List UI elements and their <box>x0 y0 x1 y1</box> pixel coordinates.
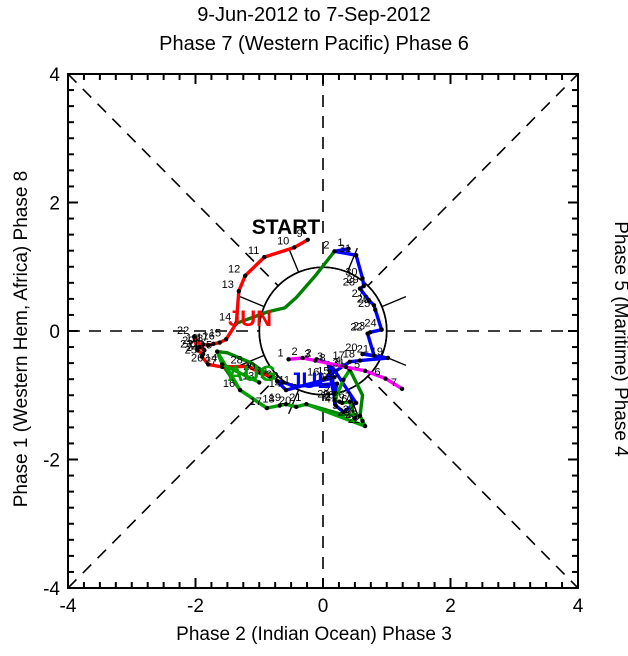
data-point <box>262 255 266 259</box>
x-tick-label: 2 <box>445 596 456 617</box>
day-label: 3 <box>317 351 323 363</box>
y-tick-label: -4 <box>43 579 60 600</box>
data-point <box>238 388 242 392</box>
data-point <box>224 337 228 341</box>
day-label: 24 <box>364 318 376 330</box>
day-label: 13 <box>222 279 234 291</box>
month-label-aug: AUG <box>228 361 277 386</box>
day-label: 28 <box>343 277 355 289</box>
data-point <box>373 308 377 312</box>
day-label: 2 <box>323 239 329 251</box>
data-point <box>284 388 288 392</box>
data-point <box>363 424 367 428</box>
data-point <box>383 376 387 380</box>
day-label: 21 <box>289 392 301 404</box>
x-tick-label: -2 <box>187 596 204 617</box>
data-point <box>360 419 364 423</box>
y-tick-label: 2 <box>49 194 60 215</box>
data-point <box>286 357 290 361</box>
day-label: 14 <box>205 352 217 364</box>
day-label: 19 <box>371 346 383 358</box>
day-label: 6 <box>374 367 380 379</box>
day-label: 1 <box>277 347 283 359</box>
x-tick-label: 0 <box>318 596 329 617</box>
day-label: 12 <box>228 264 240 276</box>
data-point <box>360 276 364 280</box>
data-point <box>218 340 222 344</box>
day-label: 25 <box>338 406 350 418</box>
day-label: 21 <box>357 343 369 355</box>
month-label-jun: JUN <box>228 306 272 331</box>
phase-sector-tick <box>382 297 406 307</box>
data-point <box>363 369 367 373</box>
start-label: START <box>252 216 321 239</box>
data-point <box>354 253 358 257</box>
y-tick-label: -2 <box>43 451 60 472</box>
plot-canvas: -4-2024420-2-4 9101112131415161718192021… <box>0 0 628 656</box>
day-label: 15 <box>200 340 212 352</box>
day-label: 31 <box>339 243 351 255</box>
data-point <box>237 289 241 293</box>
y-tick-label: 0 <box>49 322 60 343</box>
day-label: 2 <box>291 346 297 358</box>
data-point <box>243 274 247 278</box>
data-point <box>386 356 390 360</box>
data-point <box>332 249 336 253</box>
data-point <box>365 331 369 335</box>
day-label: 22 <box>177 325 189 337</box>
day-label: 4 <box>335 355 341 367</box>
day-label: 25 <box>358 298 370 310</box>
data-point <box>220 362 224 366</box>
month-label-jul: JUL <box>289 368 331 393</box>
phase-sector-tick <box>289 248 299 272</box>
data-point <box>379 328 383 332</box>
data-point <box>304 402 308 406</box>
data-point <box>292 245 296 249</box>
data-point <box>294 405 298 409</box>
day-label: 7 <box>391 377 397 389</box>
x-tick-label: 4 <box>573 596 584 617</box>
data-point <box>335 381 339 385</box>
y-tick-label: 4 <box>49 65 60 86</box>
day-label: 11 <box>248 245 259 257</box>
data-point <box>341 378 345 382</box>
data-point <box>265 406 269 410</box>
day-label: 5 <box>354 359 360 371</box>
data-point <box>400 387 404 391</box>
day-label: 26 <box>191 352 203 364</box>
day-label: 17 <box>250 396 262 408</box>
data-point <box>372 303 376 307</box>
x-tick-label: -4 <box>60 596 77 617</box>
day-label: 3 <box>304 349 310 361</box>
day-label: 22 <box>350 322 362 334</box>
mjo-phase-diagram: 9-Jun-2012 to 7-Sep-2012 Phase 7 (Wester… <box>0 0 628 656</box>
